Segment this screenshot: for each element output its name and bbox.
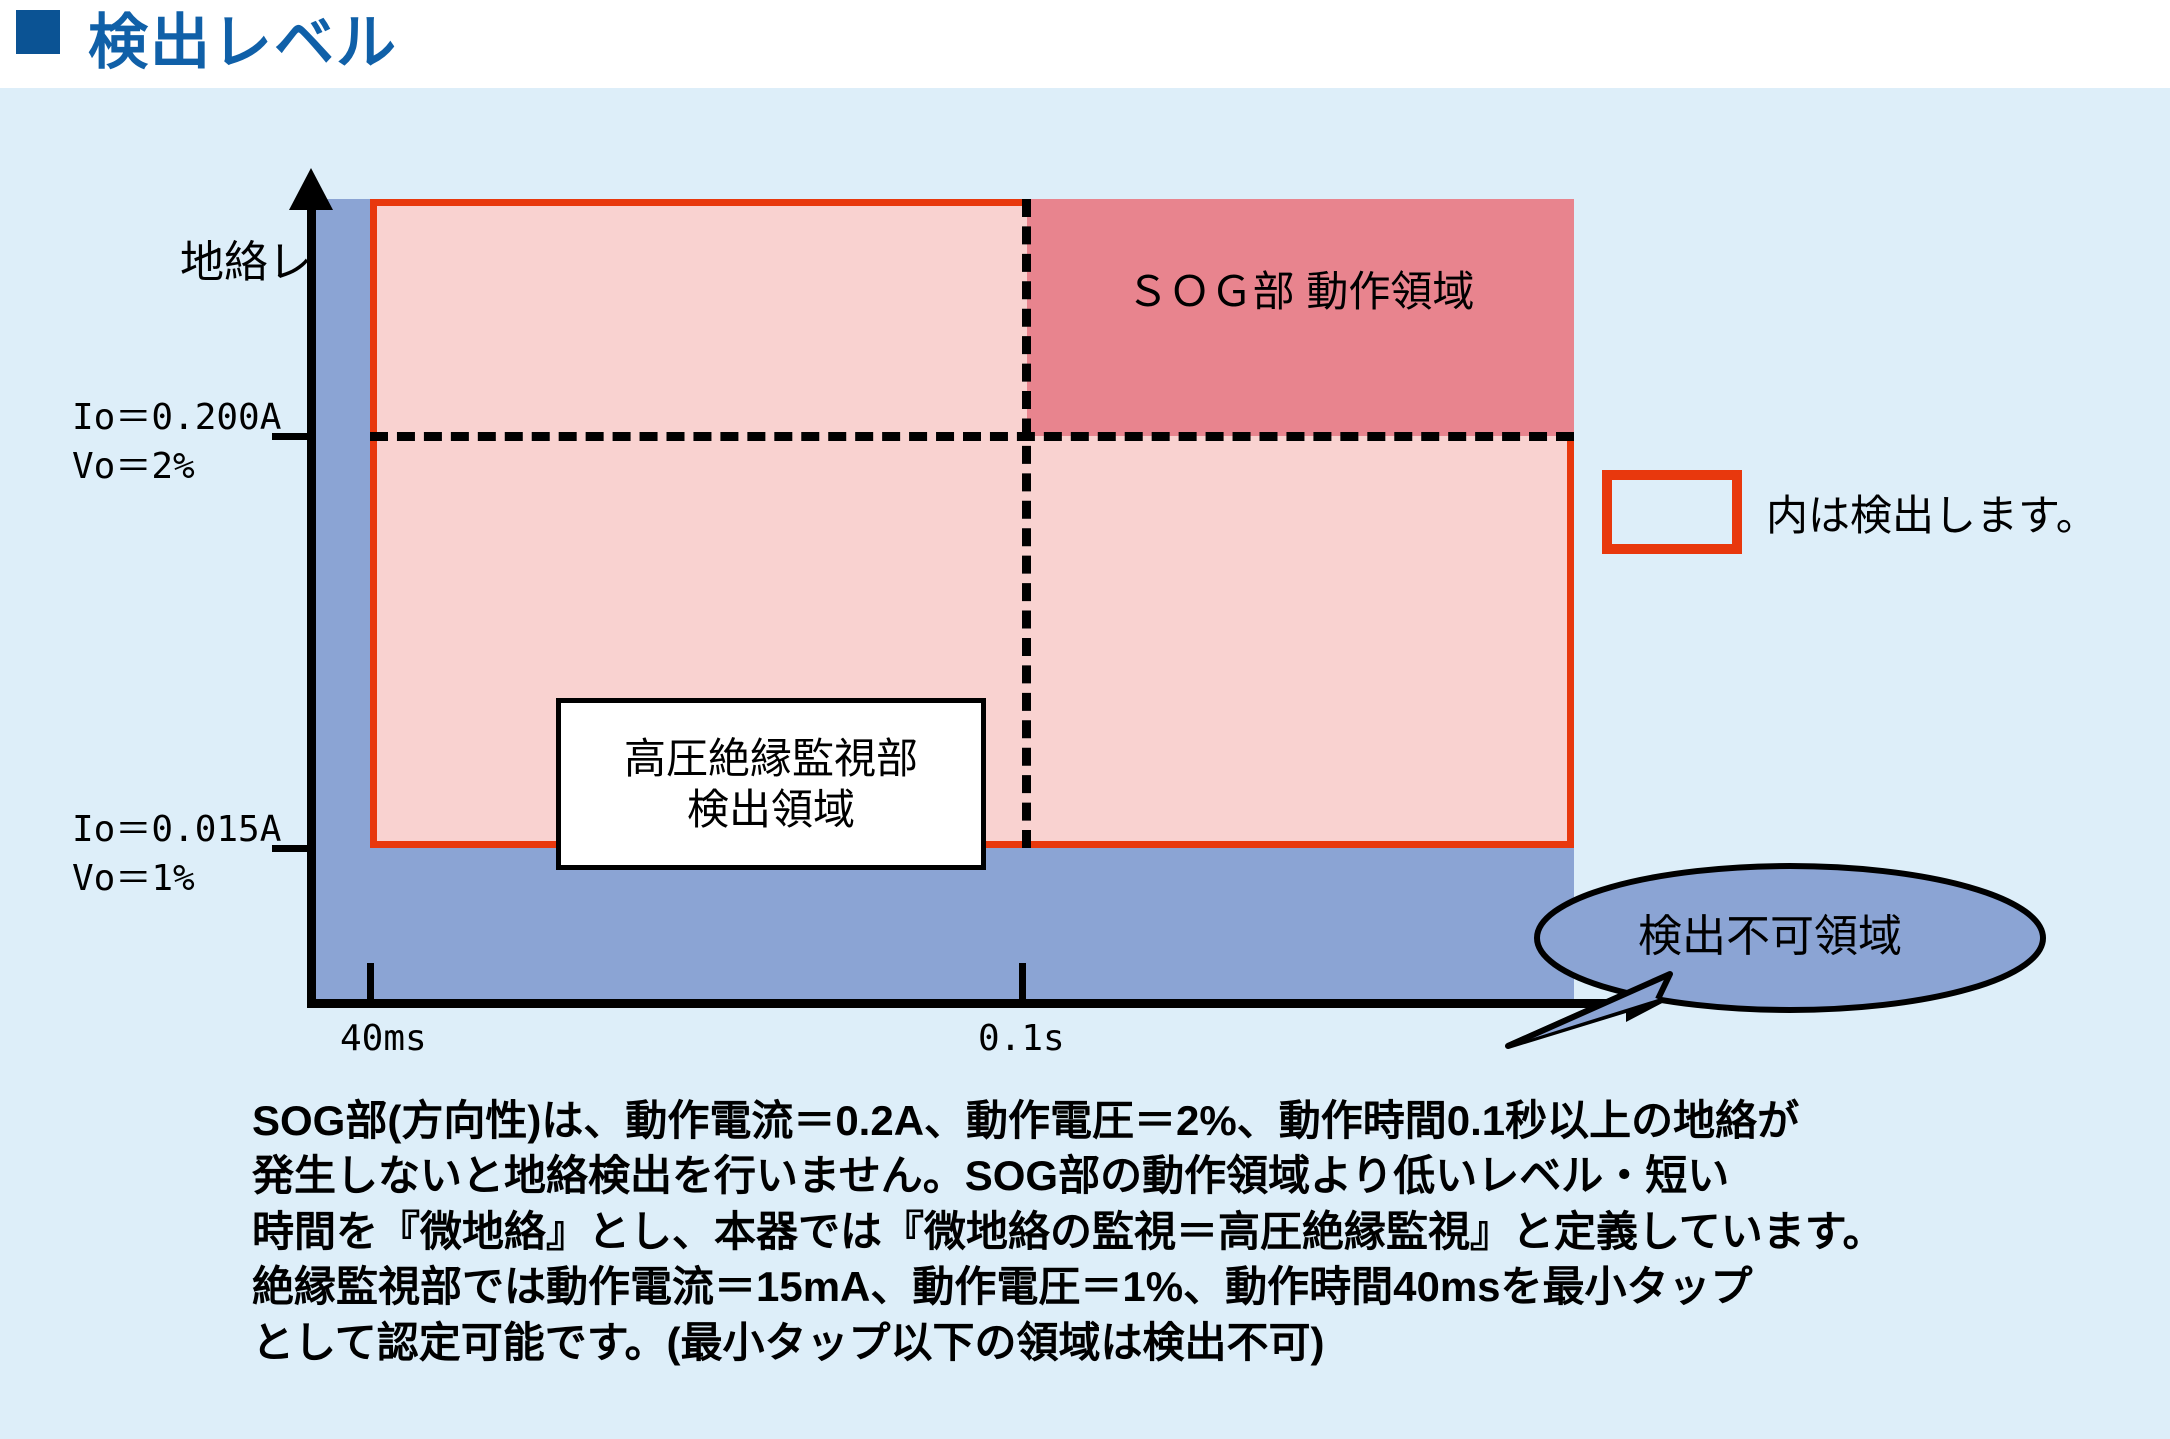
insulation-monitor-region-label: 高圧絶縁監視部 検出領域 [624,733,918,835]
x-tick-label-second: 0.1s [978,1018,1065,1059]
undetectable-band-bottom [316,848,1574,999]
y-axis-arrow-icon [289,168,333,210]
description-line: SOG部(方向性)は、動作電流＝0.2A、動作電圧＝2%、動作時間0.1秒以上の… [252,1093,1885,1148]
threshold-line-vertical [1022,199,1031,848]
description-line: 発生しないと地絡検出を行いません。SOG部の動作領域より低いレベル・短い [252,1148,1885,1203]
threshold-line-horizontal [370,432,1574,441]
undetectable-callout: 検出不可領域 [1490,856,2050,1056]
x-tick-label-first: 40ms [340,1018,427,1059]
insulation-monitor-region-box: 高圧絶縁監視部 検出領域 [556,698,986,870]
slide-body: 地絡レベル ＳＯＧ部 動作領域 高圧絶縁監視部 検出領域 Io＝0.200A V… [0,88,2170,1439]
legend-label: 内は検出します。 [1766,482,2098,543]
title-bar: 検出レベル [0,0,2170,88]
undetectable-callout-label: 検出不可領域 [1490,900,2050,964]
page-title: 検出レベル [88,0,398,81]
title-bullet-icon [16,10,60,54]
sog-region-label: ＳＯＧ部 動作領域 [1027,266,1574,317]
legend: 内は検出します。 [1602,470,2098,554]
detection-level-chart: 地絡レベル ＳＯＧ部 動作領域 高圧絶縁監視部 検出領域 Io＝0.200A V… [0,88,2170,1068]
x-axis-line [307,999,1629,1008]
y-tick-label-lower: Io＝0.015A Vo＝1% [72,806,281,903]
x-tick-mark-first [367,963,374,1003]
description-line: として認定可能です。(最小タップ以下の領域は検出不可) [252,1315,1885,1370]
sog-operating-region [1027,199,1574,436]
legend-swatch-icon [1602,470,1742,554]
x-tick-mark-second [1019,963,1026,1003]
y-tick-label-upper: Io＝0.200A Vo＝2% [72,394,281,491]
description-paragraph: SOG部(方向性)は、動作電流＝0.2A、動作電圧＝2%、動作時間0.1秒以上の… [252,1093,1885,1370]
description-line: 時間を『微地絡』とし、本器では『微地絡の監視＝高圧絶縁監視』と定義しています。 [252,1204,1885,1259]
y-axis-line [307,196,316,1008]
description-line: 絶縁監視部では動作電流＝15mA、動作電圧＝1%、動作時間40msを最小タップ [252,1259,1885,1314]
